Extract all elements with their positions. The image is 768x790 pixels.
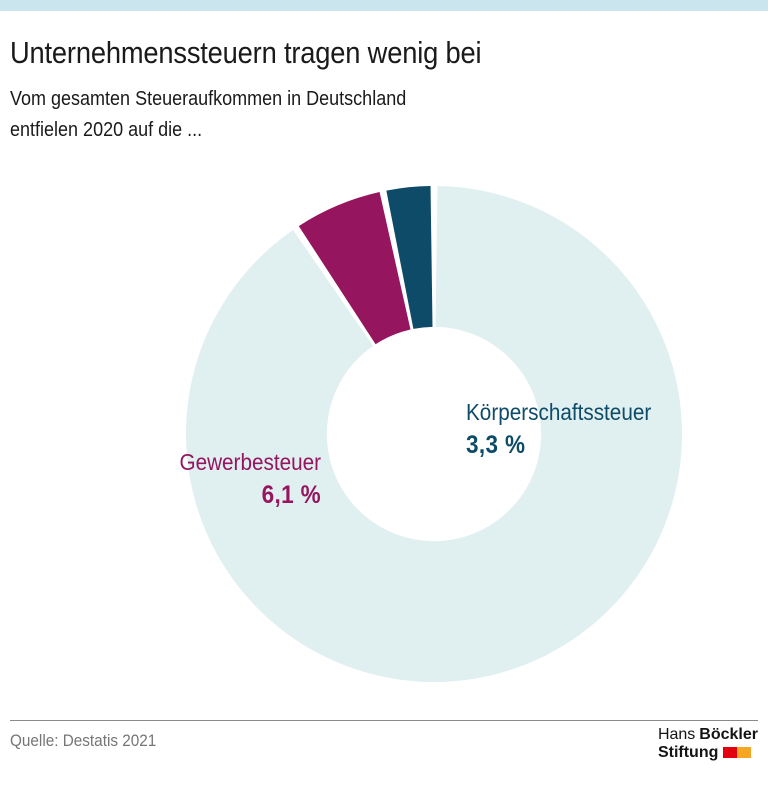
slice-label-gewerbesteuer-name: Gewerbesteuer	[50, 448, 321, 476]
logo-swatch-red-icon	[723, 747, 737, 758]
donut-chart: Körperschaftssteuer 3,3 % Gewerbesteuer …	[0, 170, 768, 700]
logo-line-1: Hans Böckler	[658, 726, 758, 744]
logo-word-boeckler: Böckler	[699, 726, 758, 744]
slice-label-koerperschaftssteuer-value: 3,3 %	[466, 430, 651, 461]
slice-label-koerperschaftssteuer: Körperschaftssteuer 3,3 %	[466, 398, 672, 461]
slice-label-koerperschaftssteuer-name: Körperschaftssteuer	[466, 398, 651, 426]
slice-label-gewerbesteuer: Gewerbesteuer 6,1 %	[20, 448, 321, 511]
header: Unternehmenssteuern tragen wenig bei Vom…	[10, 36, 750, 146]
footer-divider	[10, 720, 758, 721]
logo-line-2: Stiftung	[658, 744, 758, 762]
chart-subtitle-line-2: entfielen 2020 auf die ...	[10, 115, 676, 146]
top-accent-bar	[0, 0, 768, 11]
source-note: Quelle: Destatis 2021	[10, 731, 156, 751]
slice-label-gewerbesteuer-value: 6,1 %	[50, 480, 321, 511]
hans-boeckler-stiftung-logo: Hans Böckler Stiftung	[658, 726, 758, 762]
chart-subtitle: Vom gesamten Steueraufkommen in Deutschl…	[10, 84, 676, 146]
logo-word-stiftung: Stiftung	[658, 744, 718, 762]
page-title: Unternehmenssteuern tragen wenig bei	[10, 36, 661, 70]
chart-subtitle-line-1: Vom gesamten Steueraufkommen in Deutschl…	[10, 84, 676, 115]
logo-word-hans: Hans	[658, 726, 695, 744]
logo-color-swatches	[723, 747, 751, 758]
logo-swatch-orange-icon	[737, 747, 751, 758]
